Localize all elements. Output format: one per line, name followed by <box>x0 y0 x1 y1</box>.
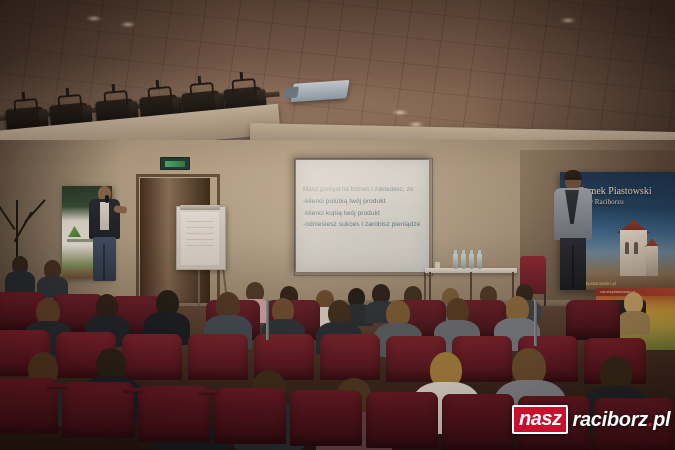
presenter-shirt <box>100 202 109 230</box>
ceiling-downlight <box>86 16 102 21</box>
banner-logo-icon <box>68 226 81 237</box>
auditorium-seat <box>290 390 362 446</box>
watermark-box: nasz <box>512 405 568 434</box>
castle-illustration <box>612 216 658 278</box>
flipchart-leg <box>198 266 200 306</box>
water-bottle <box>453 254 458 269</box>
water-bottle <box>477 254 482 269</box>
presenter-with-glasses <box>552 172 596 294</box>
cup <box>435 262 440 268</box>
table-leg <box>470 272 472 302</box>
auditorium-seat <box>366 392 438 448</box>
water-bottle <box>469 254 474 269</box>
ceiling-downlight <box>392 110 408 115</box>
ceiling-downlight <box>120 22 136 27</box>
microphone-icon <box>105 195 109 203</box>
table-leg <box>429 272 431 302</box>
watermark-nasz-raciborz: nasz raciborz.pl <box>512 405 670 434</box>
watermark-text: raciborz.pl <box>572 410 670 430</box>
flipchart-handwriting <box>186 220 214 246</box>
aisle-rail <box>266 300 269 340</box>
seat-armrest <box>198 390 220 395</box>
glasses-icon <box>566 178 580 182</box>
leg-separation <box>572 246 574 288</box>
seat-armrest <box>122 388 144 393</box>
ceiling-downlight <box>560 18 576 23</box>
auditorium-seat <box>188 334 248 380</box>
aisle-rail <box>534 300 537 346</box>
auditorium-seat <box>320 334 380 380</box>
exit-sign-icon <box>160 157 190 170</box>
leg-separation <box>103 244 105 280</box>
auditorium-seat <box>566 300 620 340</box>
water-bottle <box>461 254 466 269</box>
seat-armrest <box>46 384 68 389</box>
watermark-tld: pl <box>653 409 670 431</box>
flipchart-clamp <box>180 205 220 210</box>
watermark-domain: raciborz <box>572 409 647 431</box>
auditorium-seat <box>442 394 514 450</box>
auditorium-seat <box>122 334 182 380</box>
auditorium-seat <box>214 388 286 444</box>
screen-frame <box>294 158 433 276</box>
presenter-with-microphone <box>84 186 132 286</box>
conference-hall-photo: Masz pomysł na biznes i zakładasz, że: -… <box>0 0 675 450</box>
